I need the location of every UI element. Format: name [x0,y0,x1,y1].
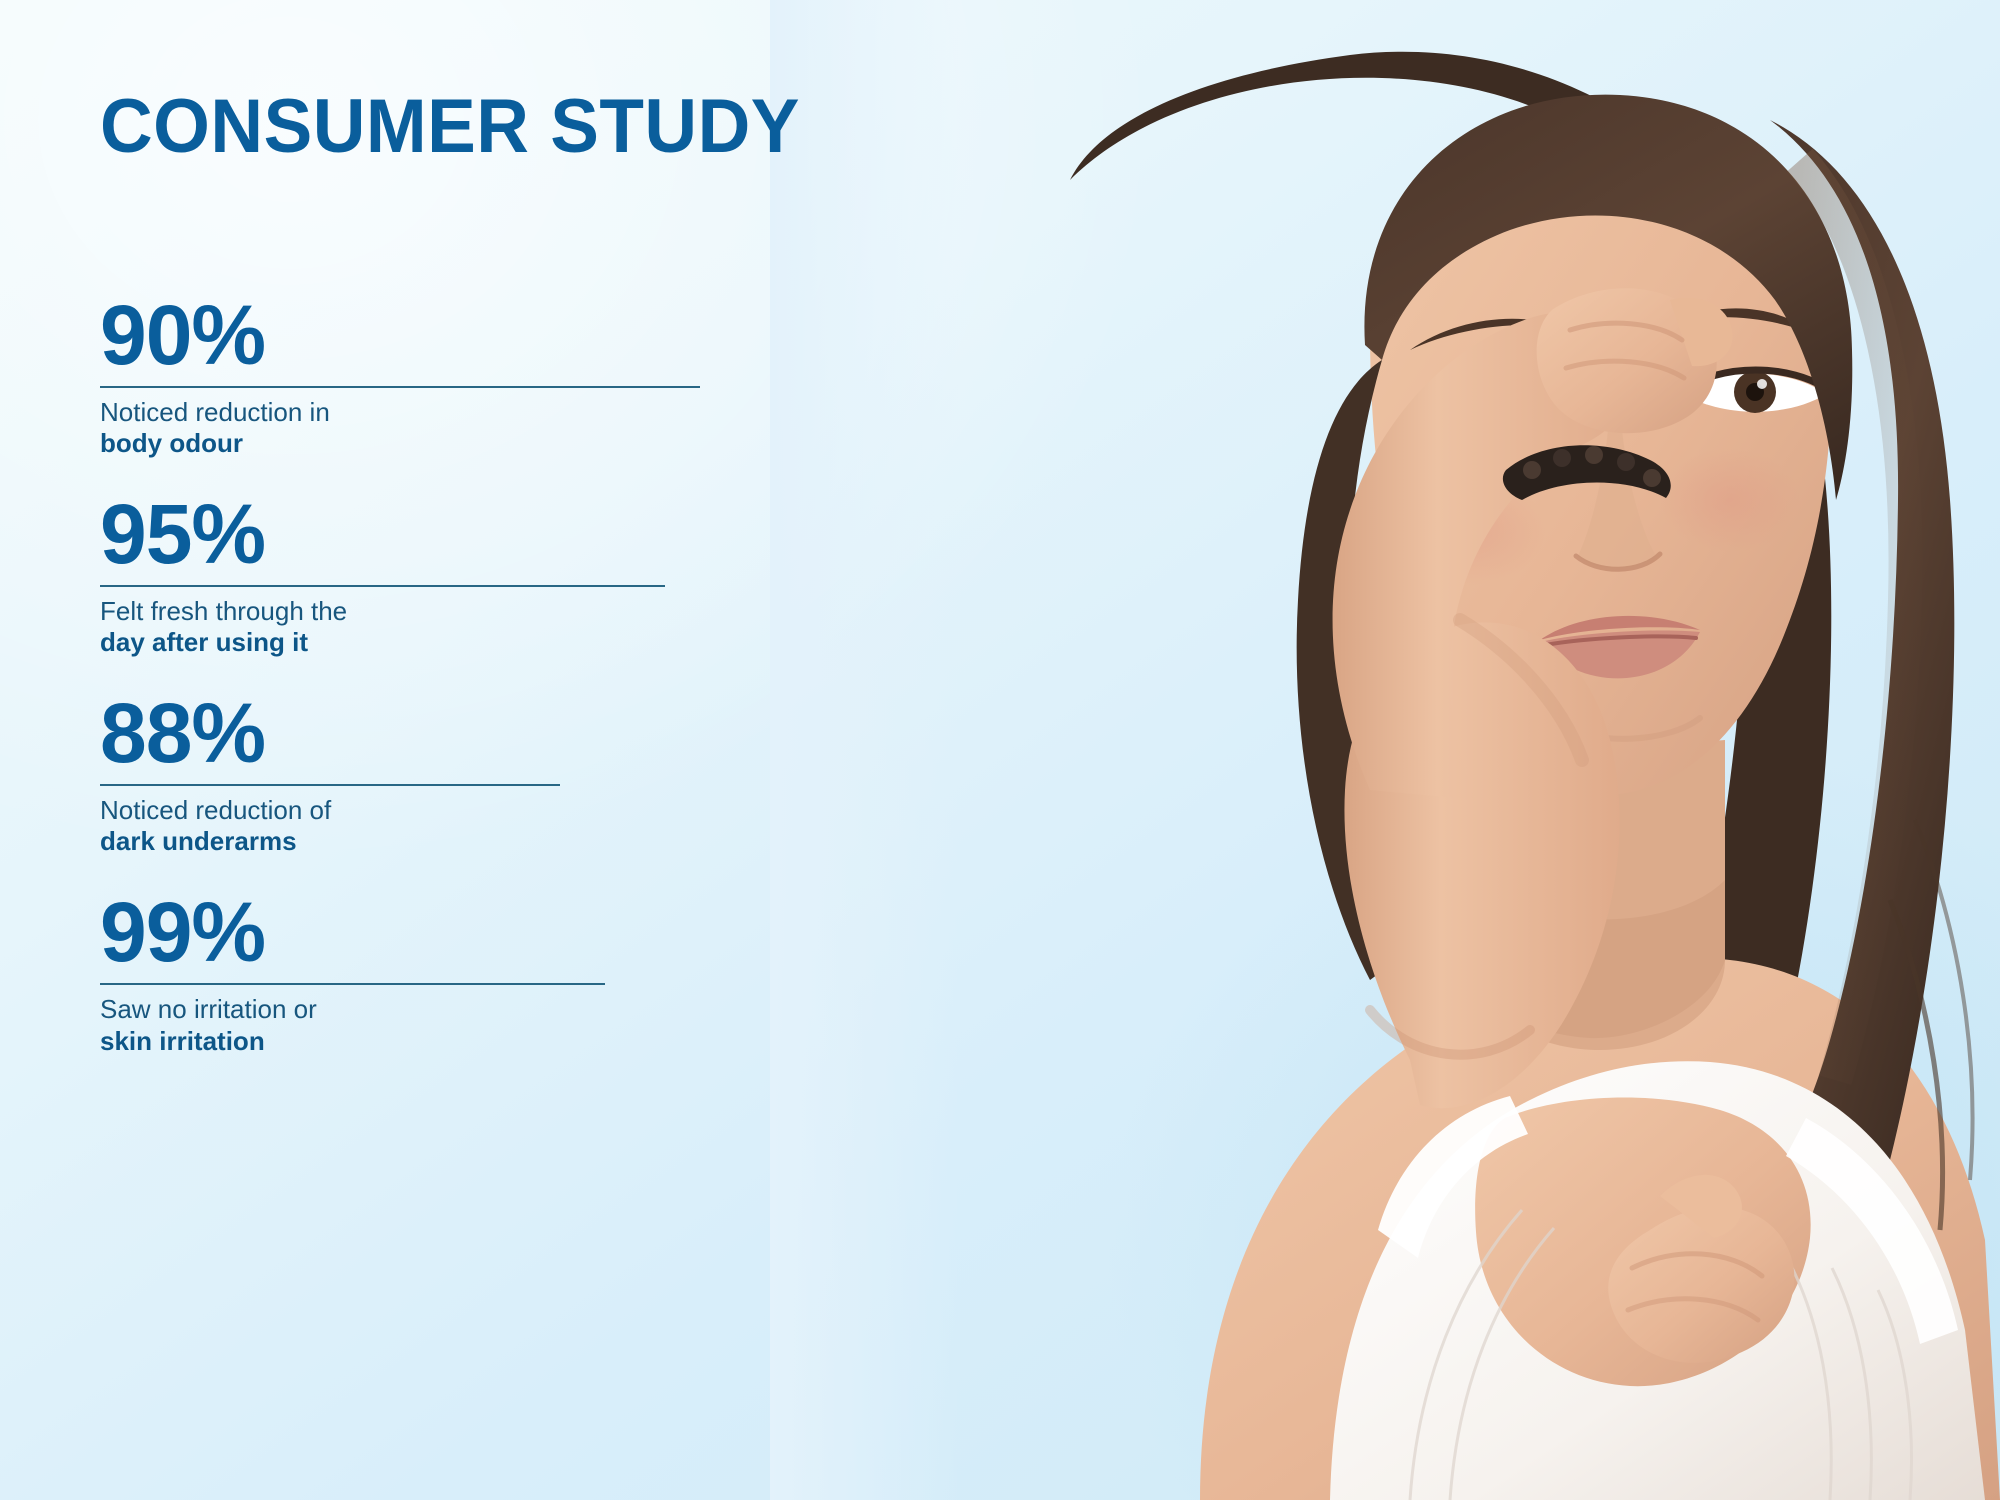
stat-block: 99% Saw no irritation or skin irritation [100,892,820,1057]
stat-block: 88% Noticed reduction of dark underarms [100,693,820,858]
stat-caption-line2: dark underarms [100,826,820,858]
stat-caption-line1: Saw no irritation or [100,994,820,1026]
stat-value: 99% [100,892,820,973]
stat-caption-line1: Noticed reduction in [100,397,820,429]
stat-divider [100,585,665,587]
stat-block: 90% Noticed reduction in body odour [100,295,820,460]
stat-caption: Noticed reduction of dark underarms [100,795,820,858]
stat-divider [100,784,560,786]
stat-caption: Saw no irritation or skin irritation [100,994,820,1057]
stat-caption: Noticed reduction in body odour [100,397,820,460]
infographic-canvas: CONSUMER STUDY 90% Noticed reduction in … [0,0,2000,1500]
stat-value: 95% [100,494,820,575]
model-photo [770,0,2000,1500]
stat-block: 95% Felt fresh through the day after usi… [100,494,820,659]
stat-value: 90% [100,295,820,376]
stat-caption-line2: day after using it [100,627,820,659]
page-title: CONSUMER STUDY [100,83,800,170]
stat-divider [100,983,605,985]
background-glow-bottom [1100,750,2000,1500]
stat-caption-line2: body odour [100,428,820,460]
stat-caption-line1: Noticed reduction of [100,795,820,827]
stat-divider [100,386,700,388]
stat-caption-line2: skin irritation [100,1026,820,1058]
stats-list: 90% Noticed reduction in body odour 95% … [100,295,820,1057]
stat-caption-line1: Felt fresh through the [100,596,820,628]
stat-caption: Felt fresh through the day after using i… [100,596,820,659]
stat-value: 88% [100,693,820,774]
